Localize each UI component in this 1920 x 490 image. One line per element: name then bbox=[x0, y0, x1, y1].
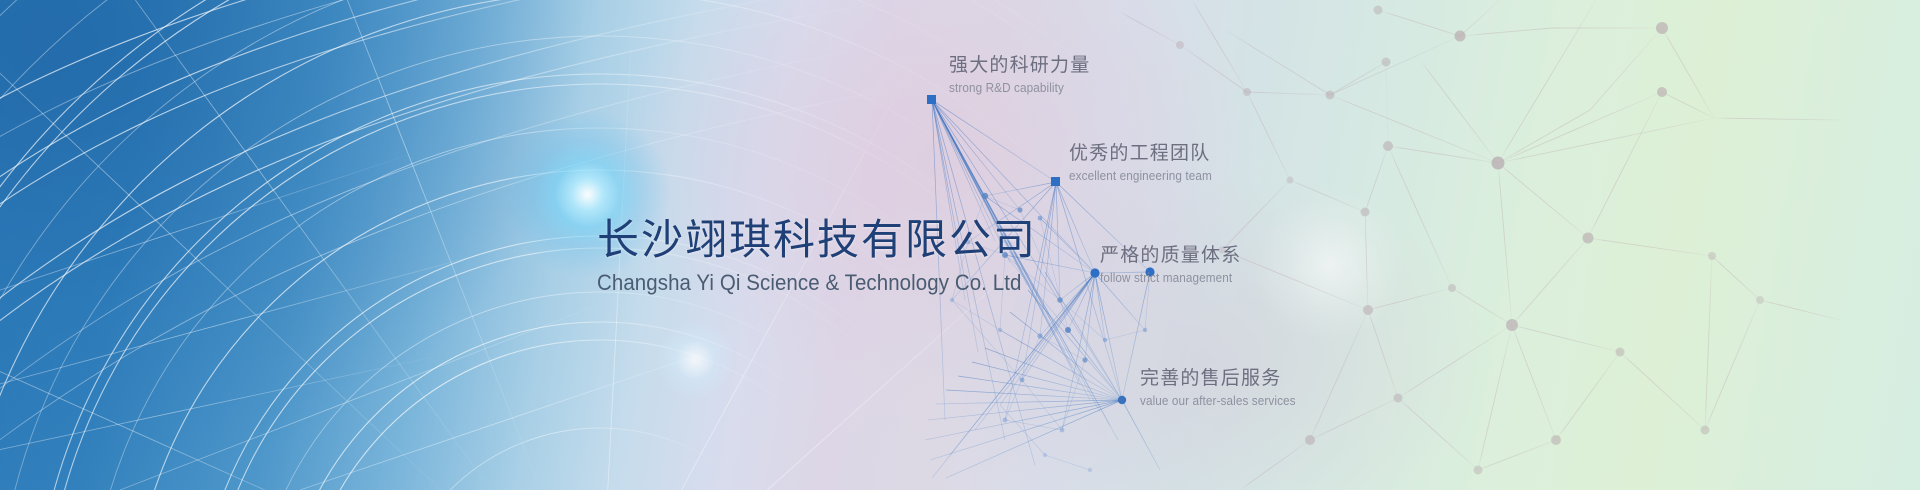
feature-1-cn: 优秀的工程团队 bbox=[1069, 138, 1221, 165]
feature-label-quality: 严格的质量体系 follow strict management bbox=[1100, 240, 1241, 285]
feature-label-service: 完善的售后服务 value our after-sales services bbox=[1140, 363, 1306, 408]
company-name-en: Changsha Yi Qi Science & Technology Co. … bbox=[597, 270, 1021, 296]
feature-0-cn: 强大的科研力量 bbox=[949, 50, 1090, 77]
feature-label-rnd: 强大的科研力量 strong R&D capability bbox=[949, 50, 1090, 95]
feature-0-en: strong R&D capability bbox=[949, 81, 1082, 95]
company-name-cn: 长沙翊琪科技有限公司 bbox=[597, 219, 1053, 263]
feature-1-en: excellent engineering team bbox=[1069, 169, 1212, 183]
lilac-haze-overlay bbox=[860, 150, 1560, 490]
feature-3-en: value our after-sales services bbox=[1140, 394, 1296, 408]
feature-2-en: follow strict management bbox=[1100, 271, 1233, 285]
feature-2-cn: 严格的质量体系 bbox=[1100, 240, 1241, 267]
right-glow-highlight bbox=[1255, 190, 1405, 340]
secondary-glow-highlight bbox=[655, 320, 735, 400]
feature-label-team: 优秀的工程团队 excellent engineering team bbox=[1069, 138, 1221, 183]
feature-3-cn: 完善的售后服务 bbox=[1140, 363, 1306, 390]
left-blue-vignette bbox=[0, 0, 640, 490]
hero-banner: 长沙翊琪科技有限公司 Changsha Yi Qi Science & Tech… bbox=[0, 0, 1920, 490]
company-title-block: 长沙翊琪科技有限公司 Changsha Yi Qi Science & Tech… bbox=[597, 219, 1053, 296]
